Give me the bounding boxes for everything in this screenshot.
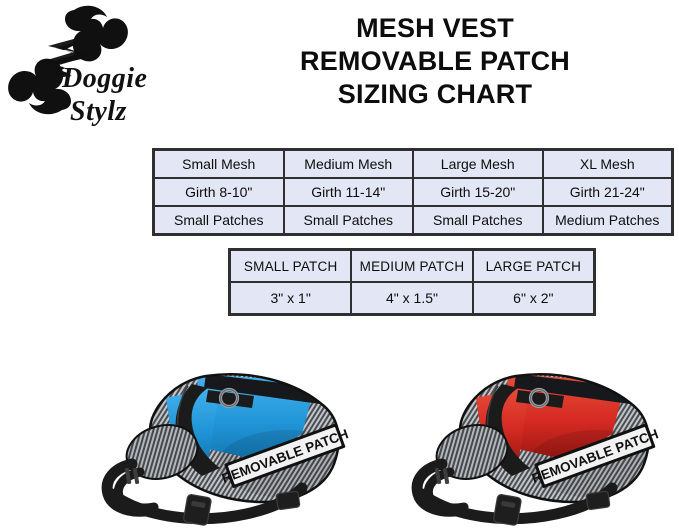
- table-cell: Girth 21-24": [543, 178, 673, 206]
- brand-wordmark: Doggie Stylz: [62, 62, 202, 134]
- blue-mesh-vest-image: REMOVABLE PATCH: [88, 368, 356, 528]
- table-cell: Small Patches: [284, 206, 414, 234]
- table-cell: Medium Mesh: [284, 150, 414, 178]
- table-cell: Girth 8-10": [154, 178, 284, 206]
- page-title-line2: REMOVABLE PATCH: [215, 45, 655, 78]
- page-title: MESH VEST REMOVABLE PATCH SIZING CHART: [215, 12, 655, 111]
- table-cell: XL Mesh: [543, 150, 673, 178]
- table-cell: 3" x 1": [230, 282, 351, 314]
- table-cell: Girth 11-14": [284, 178, 414, 206]
- patch-size-table: SMALL PATCH MEDIUM PATCH LARGE PATCH 3" …: [228, 248, 596, 316]
- table-row: Girth 8-10" Girth 11-14" Girth 15-20" Gi…: [154, 178, 672, 206]
- table-row: SMALL PATCH MEDIUM PATCH LARGE PATCH: [230, 250, 594, 282]
- table-header-cell: MEDIUM PATCH: [351, 250, 472, 282]
- table-cell: 4" x 1.5": [351, 282, 472, 314]
- mesh-size-table: Small Mesh Medium Mesh Large Mesh XL Mes…: [152, 148, 674, 236]
- page-title-line1: MESH VEST: [215, 12, 655, 45]
- table-cell: Small Patches: [154, 206, 284, 234]
- table-row: Small Patches Small Patches Small Patche…: [154, 206, 672, 234]
- table-cell: Medium Patches: [543, 206, 673, 234]
- table-cell: Large Mesh: [413, 150, 543, 178]
- table-cell: 6" x 2": [473, 282, 594, 314]
- table-header-cell: SMALL PATCH: [230, 250, 351, 282]
- table-cell: Girth 15-20": [413, 178, 543, 206]
- brand-logo: Doggie Stylz: [4, 4, 199, 132]
- table-cell: Small Mesh: [154, 150, 284, 178]
- table-header-cell: LARGE PATCH: [473, 250, 594, 282]
- table-row: Small Mesh Medium Mesh Large Mesh XL Mes…: [154, 150, 672, 178]
- table-row: 3" x 1" 4" x 1.5" 6" x 2": [230, 282, 594, 314]
- table-cell: Small Patches: [413, 206, 543, 234]
- red-mesh-vest-image: REMOVABLE PATCH: [398, 368, 666, 528]
- brand-name-line1: Doggie: [62, 62, 202, 95]
- brand-name-line2: Stylz: [62, 95, 202, 128]
- page-title-line3: SIZING CHART: [215, 78, 655, 111]
